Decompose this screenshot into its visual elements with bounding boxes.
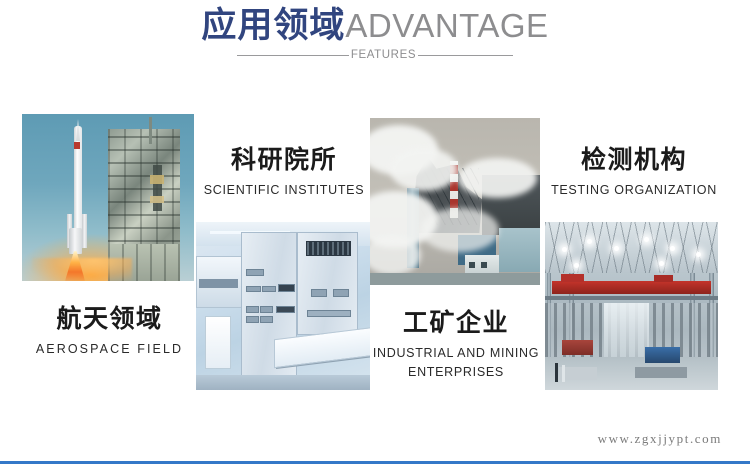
- rack-control-6: [246, 316, 258, 323]
- banner-header: 应用领域ADVANTAGE FEATURES: [0, 8, 750, 62]
- tower-mast-shape: [149, 117, 152, 144]
- crane-rail: [545, 296, 718, 299]
- factory-teal-building: [499, 228, 540, 271]
- laboratory-instrument-rack-photo: [196, 222, 370, 390]
- lab-left-shelf: [199, 279, 237, 287]
- caption-testing-organization: 检测机构 TESTING ORGANIZATION: [545, 146, 723, 199]
- tower-gold-band-2: [150, 196, 164, 204]
- hall-machine-red: [562, 340, 593, 355]
- rack-control-2: [246, 286, 260, 292]
- caption-english: TESTING ORGANIZATION: [545, 181, 723, 200]
- subtitle-rule-right: [418, 55, 513, 56]
- rocket-red-marking: [74, 142, 80, 149]
- caption-industrial-mining: 工矿企业 INDUSTRIAL AND MINING ENTERPRISES: [370, 309, 542, 382]
- rack-control-5: [260, 306, 272, 313]
- application-fields-banner: 应用领域ADVANTAGE FEATURES: [0, 0, 750, 469]
- factory-interior-crane-photo: [545, 222, 718, 390]
- hall-machine-blue: [645, 347, 680, 364]
- rocket-launch-photo: [22, 114, 194, 281]
- lab-white-cabinet: [205, 316, 231, 368]
- hall-roof-structure: [545, 222, 718, 272]
- rack-control-3: [262, 286, 276, 292]
- caption-chinese: 检测机构: [545, 146, 723, 176]
- rack-control-1: [246, 269, 264, 276]
- smoke-plume-6: [370, 235, 421, 275]
- caption-aerospace: 航天领域 AEROSPACE FIELD: [22, 305, 197, 358]
- subtitle-label: FEATURES: [349, 50, 418, 62]
- caption-english: SCIENTIFIC INSTITUTES: [196, 181, 372, 200]
- rocket-booster-right: [82, 214, 87, 247]
- rack-control-8: [311, 289, 327, 297]
- rack-control-9: [333, 289, 349, 297]
- smoke-plume-5: [421, 208, 499, 251]
- rack-control-4: [246, 306, 258, 313]
- ceiling-lamp-2: [587, 239, 592, 244]
- site-watermark: www.zgxjjypt.com: [598, 431, 722, 447]
- tower-dark-panel: [153, 165, 162, 211]
- caption-english-line2: ENTERPRISES: [370, 363, 542, 382]
- factory-ground: [370, 273, 540, 285]
- rack-control-7: [260, 316, 272, 323]
- card-testing-organization[interactable]: 检测机构 TESTING ORGANIZATION: [545, 146, 723, 390]
- caption-scientific-institutes: 科研院所 SCIENTIFIC INSTITUTES: [196, 146, 372, 199]
- caption-english: AEROSPACE FIELD: [22, 340, 197, 359]
- card-industrial-mining[interactable]: 工矿企业 INDUSTRIAL AND MINING ENTERPRISES: [370, 118, 542, 382]
- page-title-english: ADVANTAGE: [345, 7, 548, 44]
- lab-floor: [196, 375, 370, 390]
- card-scientific-institutes[interactable]: 科研院所 SCIENTIFIC INSTITUTES: [196, 146, 372, 390]
- hall-conveyor: [635, 367, 687, 379]
- caption-chinese: 工矿企业: [370, 309, 542, 339]
- hall-worker-2: [562, 365, 565, 382]
- tower-gold-band: [150, 175, 164, 184]
- page-title-chinese: 应用领域: [201, 6, 345, 45]
- rack-display-2: [276, 306, 295, 312]
- page-title: 应用领域ADVANTAGE: [0, 8, 750, 43]
- ceiling-lamp-5: [670, 246, 675, 251]
- subtitle-rule-left: [237, 55, 349, 56]
- rocket-skirt-shape: [69, 228, 82, 255]
- rack-control-strip: [307, 310, 351, 317]
- caption-english: INDUSTRIAL AND MINING: [370, 344, 542, 363]
- hall-worker-1: [555, 363, 558, 381]
- card-aerospace[interactable]: 航天领域 AEROSPACE FIELD: [22, 114, 197, 358]
- smokestack-factory-photo: [370, 118, 540, 285]
- ceiling-lamp-3: [614, 246, 619, 251]
- bottom-accent-bar: [0, 461, 750, 464]
- subtitle-row: FEATURES: [0, 50, 750, 62]
- rack-connector-panel: [306, 241, 351, 256]
- smoke-plume-4: [458, 158, 536, 198]
- rack-display-1: [278, 284, 296, 292]
- overhead-crane: [552, 281, 711, 294]
- caption-chinese: 航天领域: [22, 305, 197, 335]
- caption-chinese: 科研院所: [196, 146, 372, 176]
